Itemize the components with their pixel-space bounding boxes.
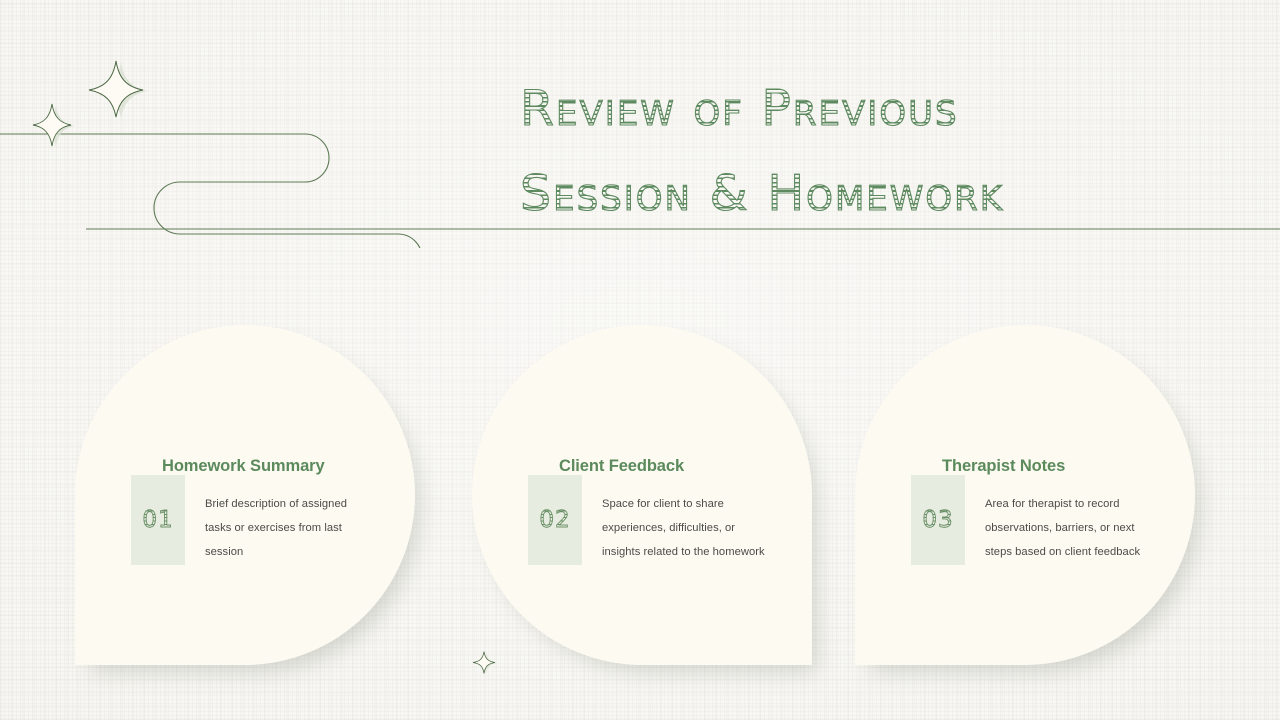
title-line-2-text: Session & Homework (520, 165, 1004, 222)
card-1-title: Homework Summary (162, 457, 325, 476)
sparkle-medium-left-icon (30, 102, 78, 150)
title-line-1-text: Review of Previous (520, 80, 959, 137)
card-homework-summary[interactable]: 01 Homework Summary Brief description of… (75, 325, 415, 665)
slide-title: Review of Previous Review of Previous Se… (520, 66, 1120, 236)
card-1-body: Brief description of assigned tasks or e… (205, 492, 365, 564)
card-client-feedback[interactable]: 02 Client Feedback Space for client to s… (472, 325, 812, 665)
card-therapist-notes[interactable]: 03 Therapist Notes Area for therapist to… (855, 325, 1195, 665)
title-line-1: Review of Previous Review of Previous (520, 66, 1120, 151)
card-3-body: Area for therapist to record observation… (985, 492, 1150, 564)
card-2-title: Client Feedback (559, 457, 684, 476)
card-1-number: 01 (142, 507, 173, 533)
card-3-number-badge: 03 (911, 475, 965, 565)
card-3-number: 03 (922, 507, 953, 533)
title-line-2: Session & Homework Session & Homework (520, 151, 1120, 236)
card-2-number: 02 (539, 507, 570, 533)
card-1-number-badge: 01 (131, 475, 185, 565)
sparkle-large-top-icon (88, 58, 150, 120)
serpentine-line (0, 134, 422, 248)
card-2-body: Space for client to share experiences, d… (602, 492, 767, 564)
slide-canvas: Review of Previous Review of Previous Se… (0, 0, 1280, 720)
card-3-title: Therapist Notes (942, 457, 1065, 476)
card-2-number-badge: 02 (528, 475, 582, 565)
